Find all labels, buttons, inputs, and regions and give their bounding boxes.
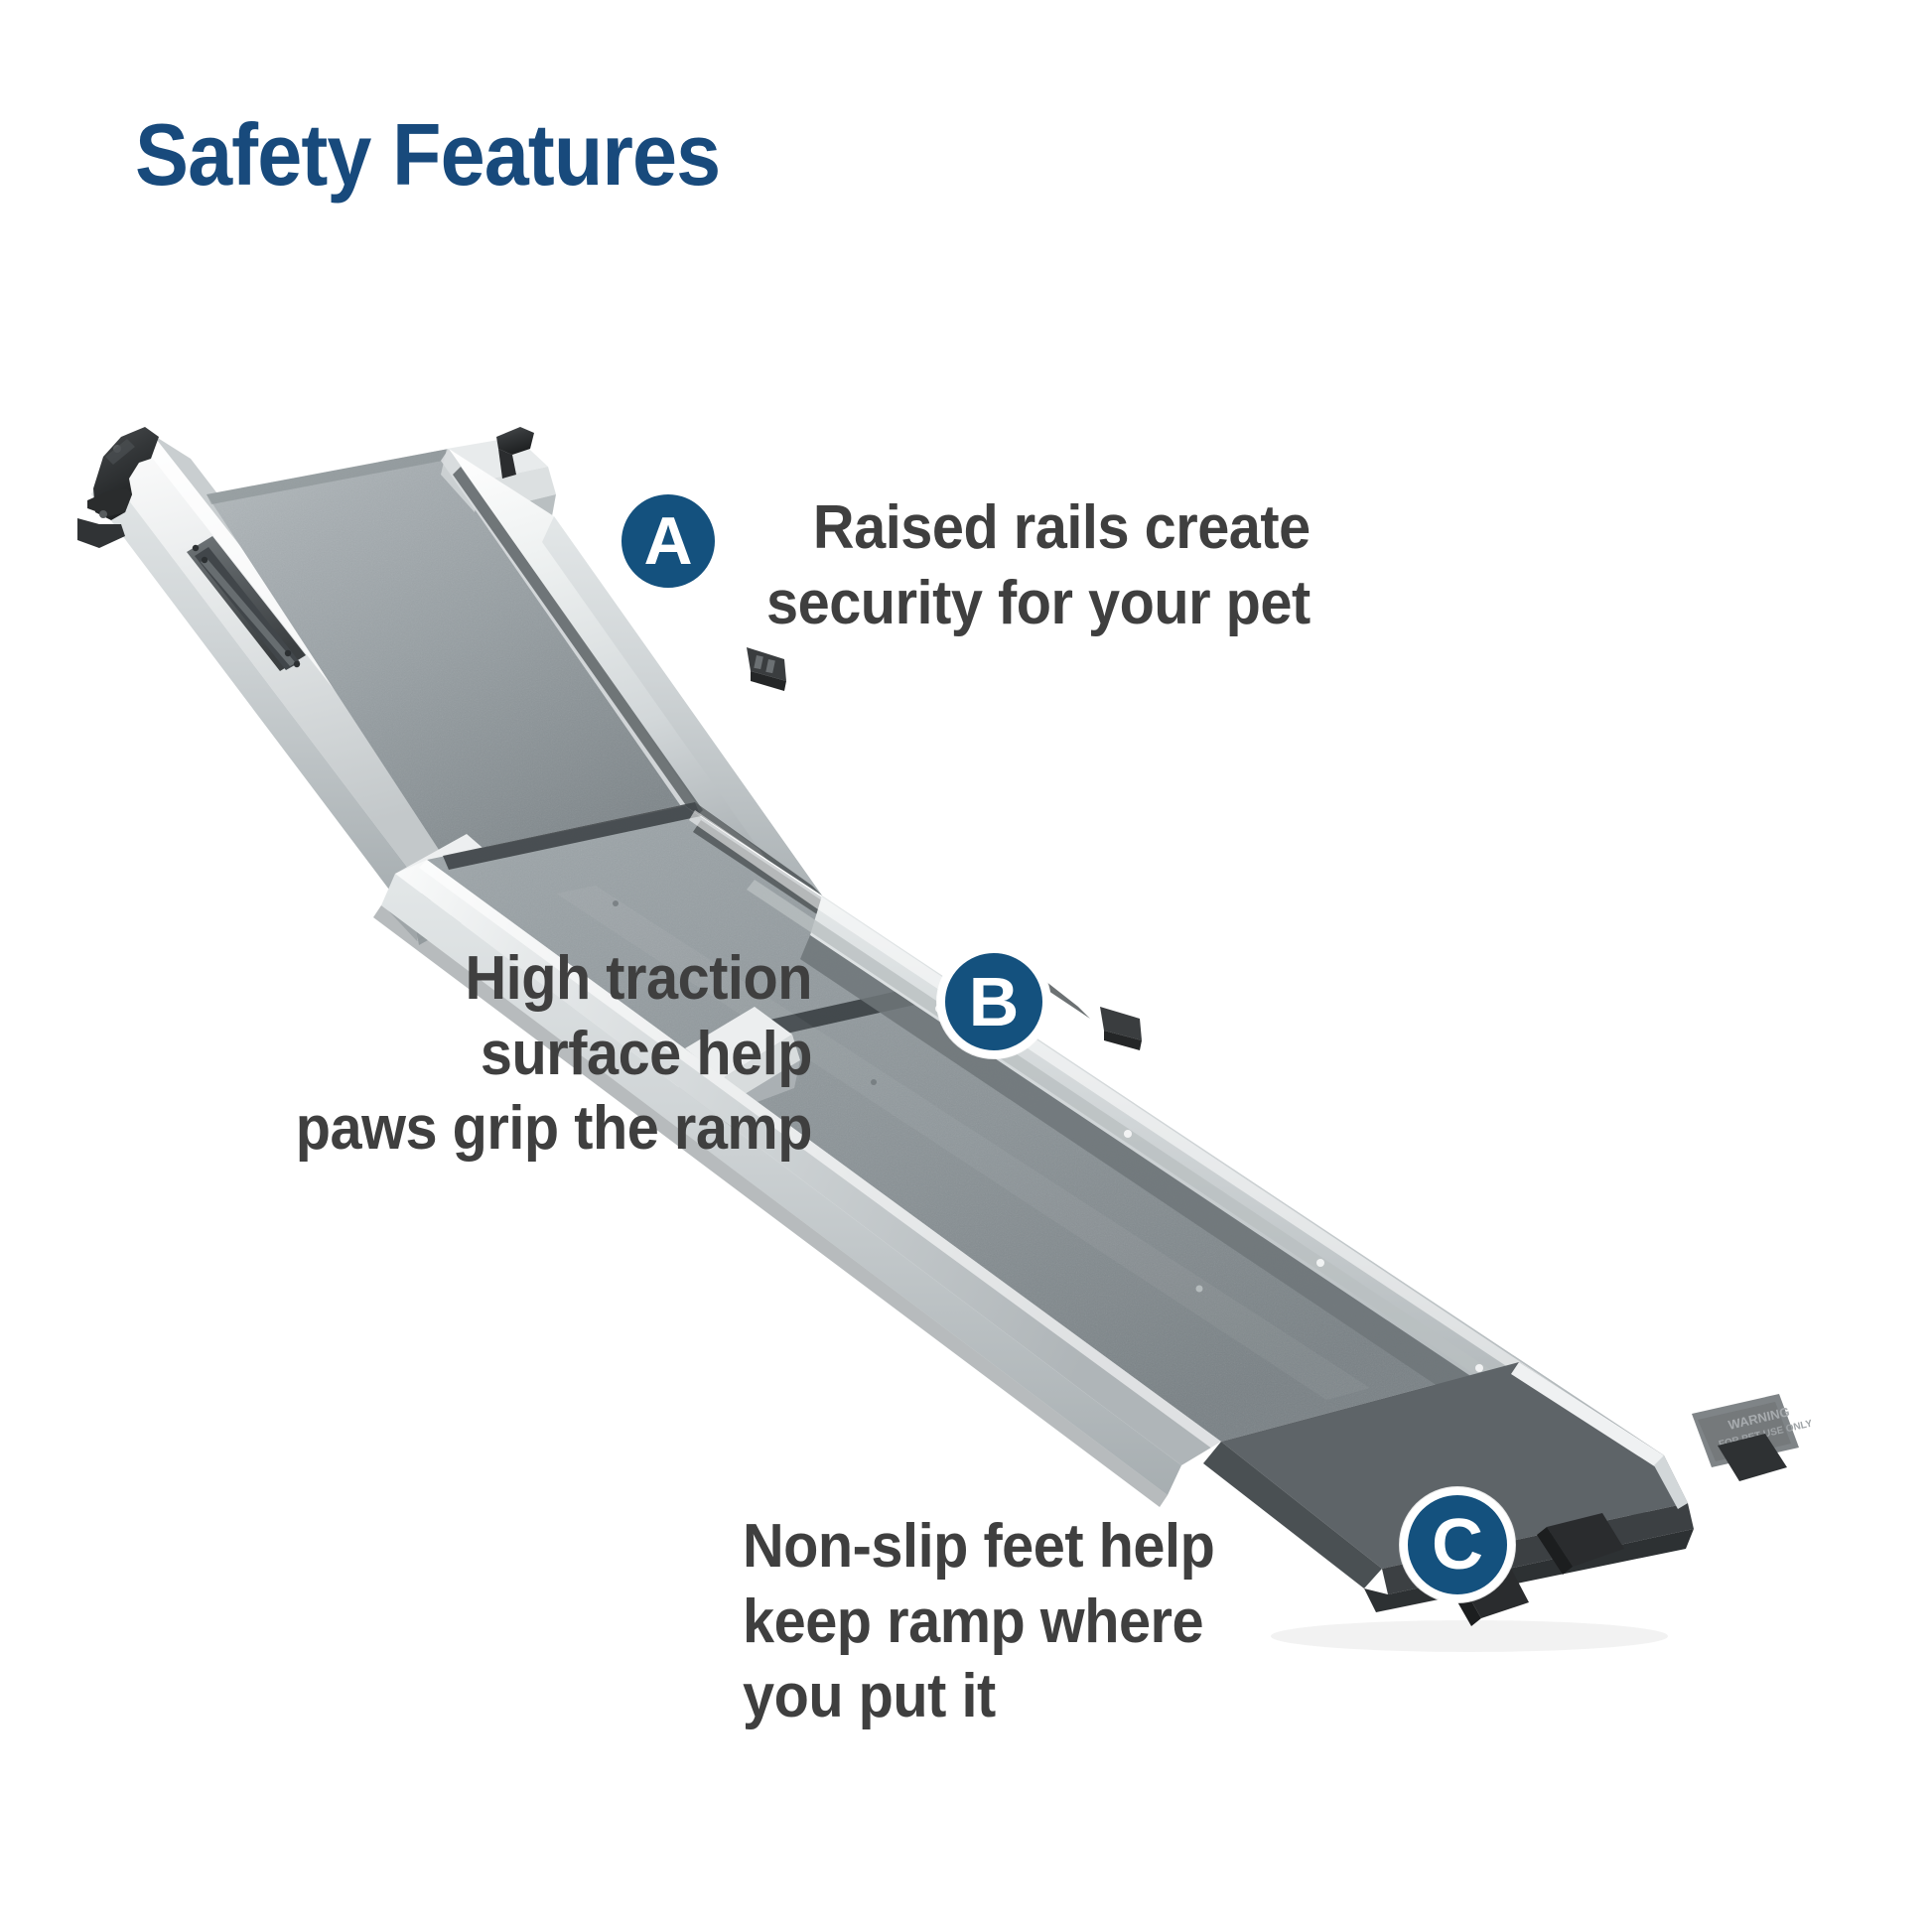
callout-c-line-2: keep ramp where xyxy=(743,1585,1214,1660)
badge-letter-a: A xyxy=(643,502,692,580)
callout-text-c: Non-slip feet help keep ramp where you p… xyxy=(743,1509,1214,1734)
callout-b-line-1: High traction xyxy=(203,941,812,1017)
callout-b-line-3: paws grip the ramp xyxy=(203,1091,812,1167)
callout-badge-b[interactable]: B xyxy=(937,945,1050,1058)
callout-c-line-1: Non-slip feet help xyxy=(743,1509,1214,1585)
callout-badge-c[interactable]: C xyxy=(1400,1487,1515,1602)
callout-b-line-2: surface help xyxy=(203,1017,812,1092)
page-title: Safety Features xyxy=(135,111,720,199)
callout-a-line-1: Raised rails create xyxy=(766,490,1311,566)
callout-c-line-3: you put it xyxy=(743,1659,1214,1734)
callout-text-a: Raised rails create security for your pe… xyxy=(766,490,1311,640)
rail-latch-mid xyxy=(1100,1007,1142,1050)
rail-latch xyxy=(747,647,786,691)
callout-badge-a[interactable]: A xyxy=(614,486,723,596)
infographic-canvas: WARNING FOR PET USE ONLY xyxy=(0,0,1932,1932)
badge-letter-c: C xyxy=(1432,1504,1483,1586)
callout-text-b: High traction surface help paws grip the… xyxy=(203,941,812,1167)
callout-a-line-2: security for your pet xyxy=(766,566,1311,641)
badge-letter-b: B xyxy=(969,962,1020,1041)
